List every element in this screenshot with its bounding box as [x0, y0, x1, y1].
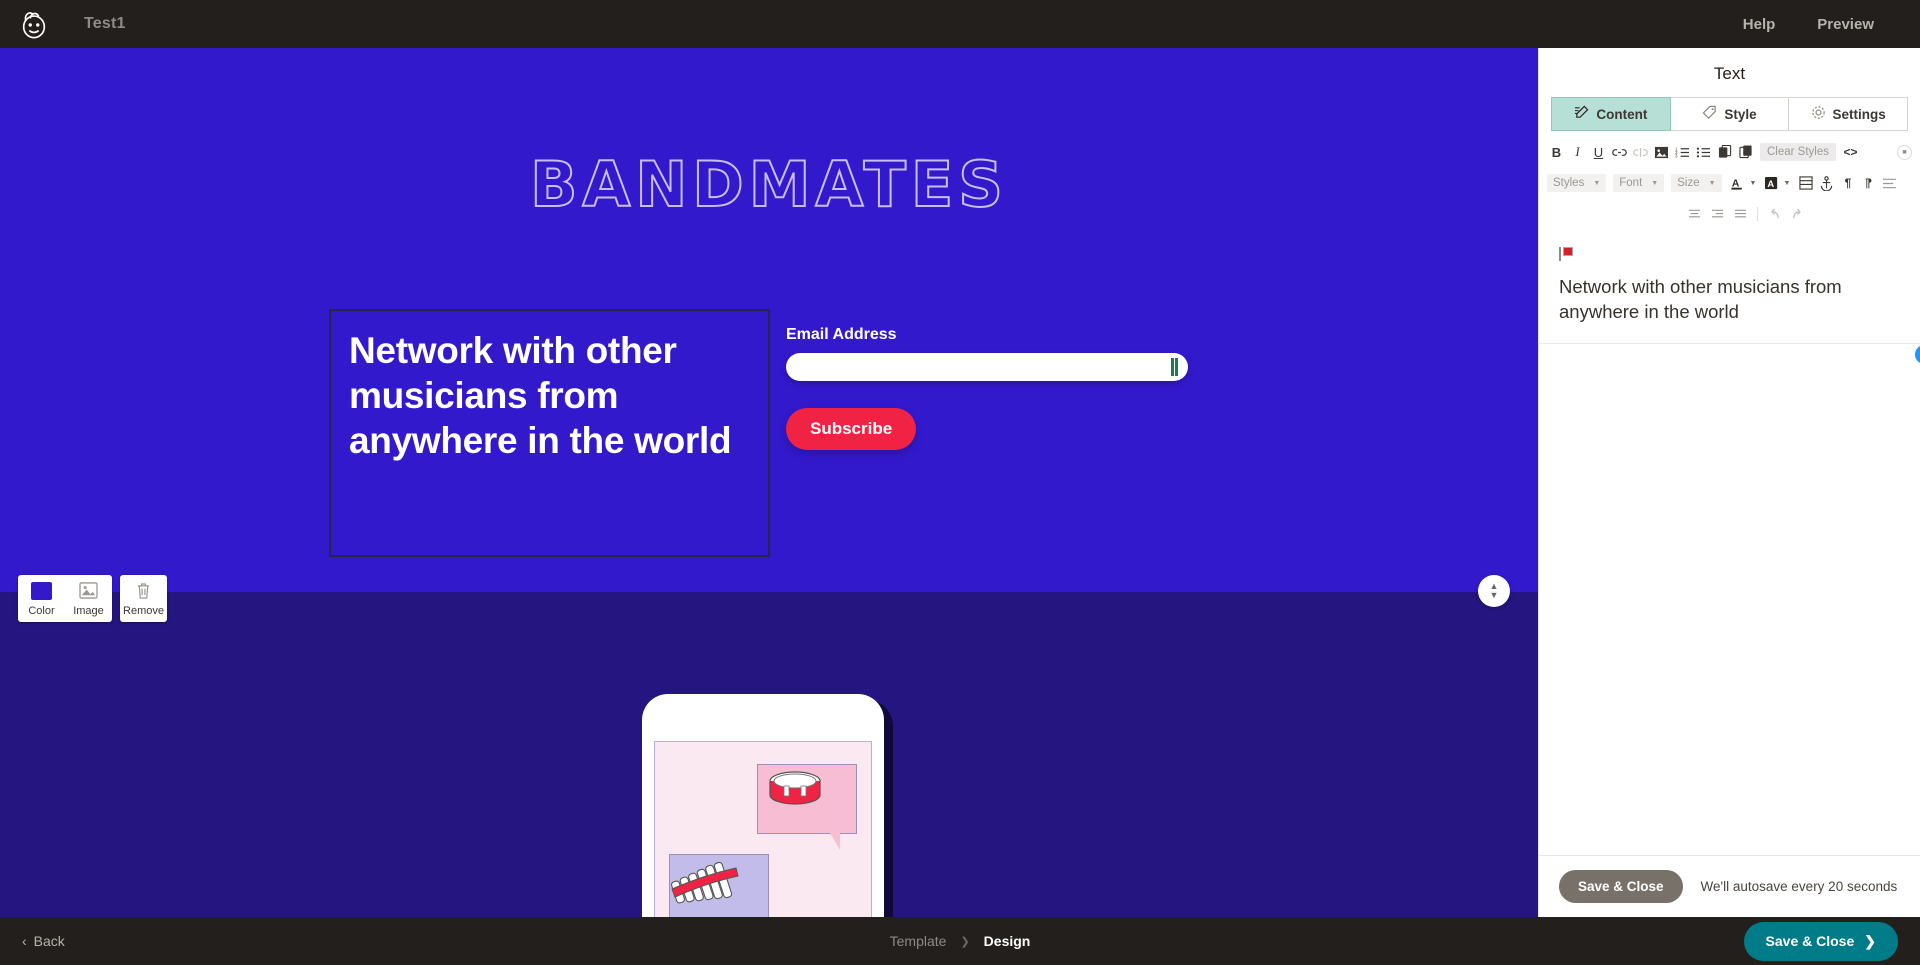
- editor-content[interactable]: Network with other musicians from anywhe…: [1559, 275, 1900, 324]
- paste-button[interactable]: [1715, 143, 1734, 162]
- hero-section[interactable]: BANDMATES Network with other musicians f…: [0, 48, 1538, 592]
- styles-dropdown-label: Styles: [1553, 177, 1584, 189]
- lower-section[interactable]: [0, 592, 1538, 917]
- footer-save-close-label: Save & Close: [1766, 933, 1855, 949]
- line-height-icon[interactable]: [1880, 174, 1899, 193]
- signup-form: Email Address Subscribe: [786, 326, 1206, 450]
- editor-divider: [1539, 343, 1920, 344]
- autosave-note: We'll autosave every 20 seconds: [1701, 879, 1898, 894]
- project-title: Test1: [84, 15, 126, 33]
- red-flag-marker-icon: [1559, 247, 1572, 261]
- tab-style-label: Style: [1724, 107, 1756, 122]
- panel-save-close-button[interactable]: Save & Close: [1559, 870, 1683, 903]
- mailchimp-logo[interactable]: [0, 9, 68, 39]
- size-dropdown-label: Size: [1677, 177, 1699, 189]
- paragraph-rtl-icon[interactable]: ¶: [1859, 174, 1878, 193]
- bottom-bar: ‹ Back Template ❯ Design Save & Close ❯: [0, 917, 1920, 965]
- subscribe-button[interactable]: Subscribe: [786, 408, 916, 450]
- rich-text-toolbar: B I U 123: [1539, 131, 1920, 225]
- unlink-button[interactable]: [1631, 143, 1650, 162]
- toolbar-divider: [1757, 207, 1758, 221]
- text-color-icon[interactable]: A: [1729, 174, 1748, 193]
- footer-save-close-button[interactable]: Save & Close ❯: [1744, 922, 1898, 961]
- insert-image-button[interactable]: [1652, 143, 1671, 162]
- chevron-right-icon: ❯: [960, 935, 969, 948]
- phone-screen: [654, 741, 872, 917]
- panel-footer: Save & Close We'll autosave every 20 sec…: [1539, 855, 1920, 917]
- back-label: Back: [34, 933, 65, 949]
- check-circle-icon[interactable]: ✓: [1915, 345, 1920, 364]
- numbered-list-button[interactable]: 123: [1673, 143, 1692, 162]
- highlight-color-icon[interactable]: A: [1762, 174, 1781, 193]
- styles-dropdown[interactable]: Styles ▼: [1547, 174, 1606, 192]
- italic-button[interactable]: I: [1568, 143, 1587, 162]
- tab-content[interactable]: Content: [1551, 97, 1671, 131]
- gear-icon: [1811, 105, 1826, 123]
- text-block-content: Network with other musicians from anywhe…: [349, 329, 748, 463]
- brand-logo-text[interactable]: BANDMATES: [0, 148, 1538, 221]
- chevron-down-icon[interactable]: ▼: [1783, 180, 1790, 187]
- toolbar-row-typography: Styles ▼ Font ▼ Size ▼ A ▼ A ▼: [1547, 172, 1912, 194]
- paragraph-ltr-icon[interactable]: ¶: [1838, 174, 1857, 193]
- paint-tag-icon: [1702, 105, 1717, 123]
- chevron-down-icon: ▼: [1709, 180, 1716, 187]
- font-dropdown-label: Font: [1619, 177, 1642, 189]
- preview-link[interactable]: Preview: [1817, 16, 1874, 33]
- chevron-down-icon: ▼: [1651, 180, 1658, 187]
- align-right-button[interactable]: [1708, 205, 1727, 224]
- table-icon[interactable]: [1796, 174, 1815, 193]
- back-button[interactable]: ‹ Back: [0, 933, 65, 949]
- toolbar-row-alignment: [1547, 203, 1912, 225]
- paste-as-text-button[interactable]: [1736, 143, 1755, 162]
- email-address-label: Email Address: [786, 326, 1206, 344]
- more-options-icon[interactable]: ■: [1897, 145, 1912, 160]
- size-dropdown[interactable]: Size ▼: [1671, 174, 1721, 192]
- panel-tabs: Content Style Settings: [1539, 97, 1920, 131]
- right-settings-panel: Text Content Style Settings: [1538, 48, 1920, 917]
- bullet-list-button[interactable]: [1694, 143, 1713, 162]
- chat-bubble-flute: [669, 854, 769, 917]
- email-input[interactable]: [786, 353, 1188, 381]
- tab-settings[interactable]: Settings: [1789, 97, 1908, 131]
- font-dropdown[interactable]: Font ▼: [1613, 174, 1664, 192]
- toolbar-row-formatting: B I U 123: [1547, 141, 1912, 163]
- tab-style[interactable]: Style: [1671, 97, 1790, 131]
- mailchimp-email-designer: Test1 Help Preview BANDMATES Network wit…: [0, 0, 1920, 965]
- phone-mockup-illustration: [642, 694, 884, 917]
- bold-button[interactable]: B: [1547, 143, 1566, 162]
- top-bar: Test1 Help Preview: [0, 0, 1920, 48]
- underline-button[interactable]: U: [1589, 143, 1608, 162]
- tab-content-label: Content: [1596, 107, 1647, 122]
- text-editor-area[interactable]: Network with other musicians from anywhe…: [1539, 225, 1920, 855]
- chevron-left-icon: ‹: [22, 933, 27, 949]
- clear-styles-button[interactable]: Clear Styles: [1760, 143, 1836, 161]
- snare-drum-icon: [758, 765, 832, 817]
- justify-button[interactable]: [1731, 205, 1750, 224]
- tab-settings-label: Settings: [1833, 107, 1886, 122]
- breadcrumb-template[interactable]: Template: [890, 933, 947, 949]
- svg-text:A: A: [1732, 178, 1740, 189]
- redo-button[interactable]: [1788, 205, 1807, 224]
- pan-flute-icon: [670, 855, 746, 909]
- pencil-edit-icon: [1574, 105, 1589, 123]
- top-bar-actions: Help Preview: [1743, 16, 1920, 33]
- text-cursor-icon: [1171, 358, 1178, 376]
- breadcrumb: Template ❯ Design: [890, 933, 1031, 949]
- chevron-down-icon: ▼: [1593, 180, 1600, 187]
- chevron-right-icon: ❯: [1864, 933, 1876, 950]
- undo-button[interactable]: [1765, 205, 1784, 224]
- svg-text:A: A: [1767, 178, 1774, 188]
- align-center-button[interactable]: [1685, 205, 1704, 224]
- code-view-button[interactable]: <>: [1841, 143, 1860, 162]
- breadcrumb-design[interactable]: Design: [984, 933, 1031, 949]
- anchor-icon[interactable]: [1817, 174, 1836, 193]
- svg-text:3: 3: [1675, 153, 1678, 158]
- chat-bubble-drum: [757, 764, 857, 834]
- chevron-down-icon[interactable]: ▼: [1750, 180, 1757, 187]
- link-button[interactable]: [1610, 143, 1629, 162]
- mailchimp-freddie-icon: [19, 9, 49, 39]
- email-canvas[interactable]: BANDMATES Network with other musicians f…: [0, 48, 1538, 917]
- help-link[interactable]: Help: [1743, 16, 1776, 33]
- selected-text-block[interactable]: Network with other musicians from anywhe…: [329, 309, 770, 557]
- panel-title: Text: [1539, 48, 1920, 97]
